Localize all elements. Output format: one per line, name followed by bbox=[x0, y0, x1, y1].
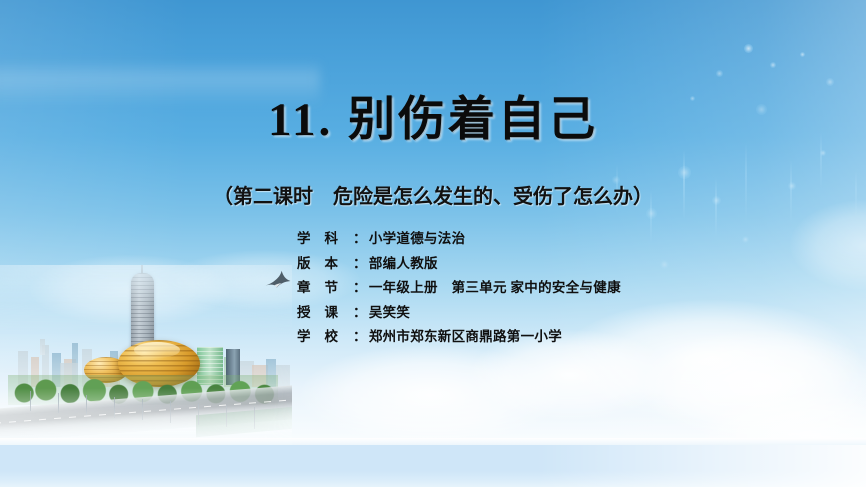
metadata-value: 郑州市郑东新区商鼎路第一小学 bbox=[369, 325, 562, 345]
metadata-colon: ： bbox=[353, 325, 367, 345]
metadata-row: 学校：郑州市郑东新区商鼎路第一小学 bbox=[297, 325, 817, 350]
metadata-label: 章节 bbox=[297, 276, 353, 296]
metadata-label: 学校 bbox=[297, 325, 353, 345]
zhengzhou-cityscape-image bbox=[0, 265, 292, 450]
slide-metadata-list: 学科：小学道德与法治版本：部编人教版章节：一年级上册 第三单元 家中的安全与健康… bbox=[297, 227, 817, 350]
metadata-row: 章节：一年级上册 第三单元 家中的安全与健康 bbox=[297, 276, 817, 301]
flying-bird-icon bbox=[264, 270, 292, 292]
metadata-row: 学科：小学道德与法治 bbox=[297, 227, 817, 252]
presentation-slide: 11. 别伤着自己 （第二课时 危险是怎么发生的、受伤了怎么办） 学科：小学道德… bbox=[0, 0, 866, 487]
slide-subtitle: （第二课时 危险是怎么发生的、受伤了怎么办） bbox=[0, 180, 866, 209]
metadata-colon: ： bbox=[353, 227, 367, 247]
metadata-colon: ： bbox=[353, 301, 367, 321]
metadata-value: 吴笑笑 bbox=[369, 301, 410, 321]
metadata-row: 版本：部编人教版 bbox=[297, 252, 817, 277]
metadata-value: 部编人教版 bbox=[369, 252, 438, 272]
metadata-value: 小学道德与法治 bbox=[369, 227, 466, 247]
slide-title: 11. 别伤着自己 bbox=[0, 96, 866, 145]
bottom-band-highlight bbox=[0, 438, 866, 445]
bottom-band-right-fade bbox=[536, 445, 866, 487]
metadata-label: 版本 bbox=[297, 252, 353, 272]
metadata-label: 授课 bbox=[297, 301, 353, 321]
metadata-label: 学科 bbox=[297, 227, 353, 247]
metadata-colon: ： bbox=[353, 276, 367, 296]
metadata-value: 一年级上册 第三单元 家中的安全与健康 bbox=[369, 276, 621, 296]
cityscape-top-haze bbox=[0, 265, 292, 335]
metadata-row: 授课：吴笑笑 bbox=[297, 301, 817, 326]
metadata-colon: ： bbox=[353, 252, 367, 272]
